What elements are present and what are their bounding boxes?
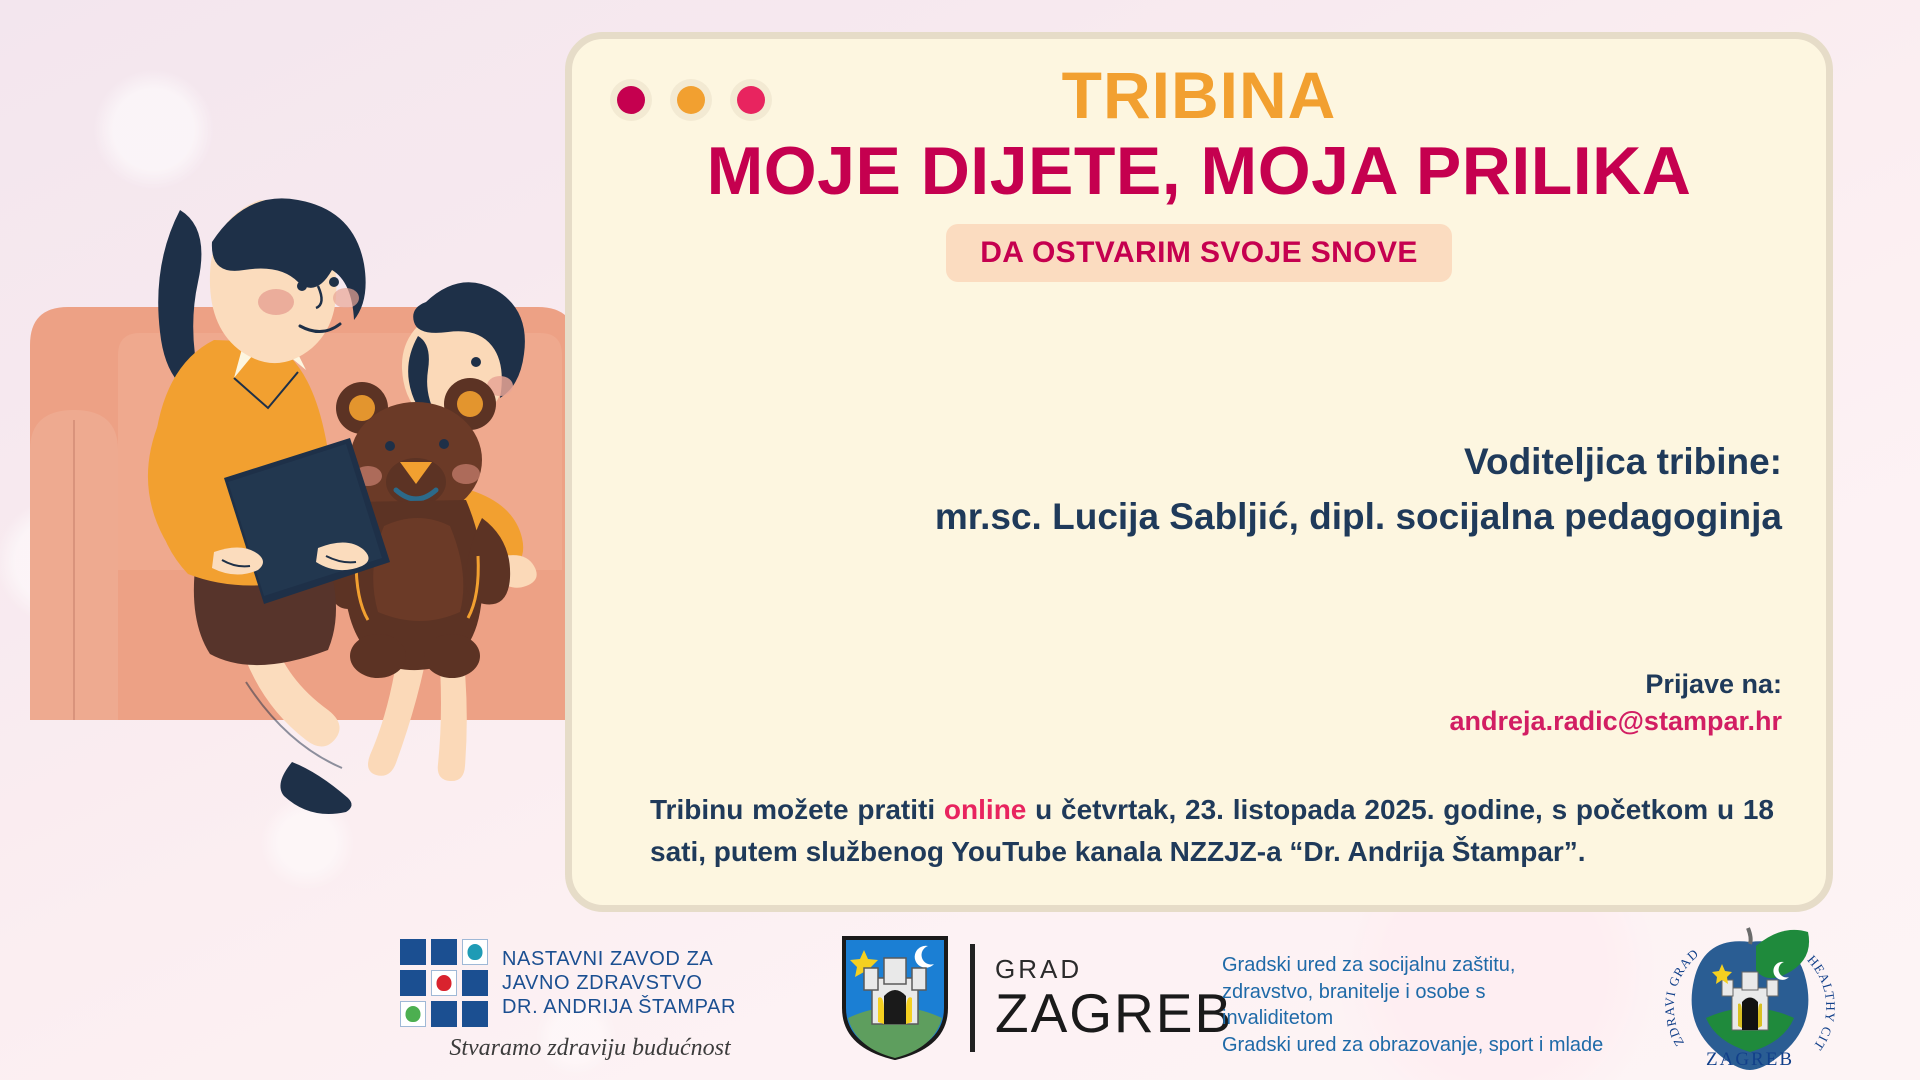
zagreb-grad-label: GRAD [995,956,1233,982]
description-part1: Tribinu možete pratiti [650,794,944,825]
nzjz-line1: NASTAVNI ZAVOD ZA [502,947,736,971]
nzjz-line2: JAVNO ZDRAVSTVO [502,971,736,995]
healthy-city-logo: ZDRAVI GRAD HEALTHY CITY ZAGREB [1660,922,1840,1072]
page-title: MOJE DIJETE, MOJA PRILIKA [572,135,1826,208]
event-description: Tribinu možete pratiti online u četvrtak… [650,789,1774,873]
office-line3: invaliditetom [1222,1005,1662,1031]
event-kicker: TRIBINA [572,61,1826,131]
illustration-mother-and-child [0,90,620,890]
speaker-name: mr.sc. Lucija Sabljić, dipl. socijalna p… [662,493,1782,541]
poster-root: TRIBINA MOJE DIJETE, MOJA PRILIKA DA OST… [0,0,1920,1080]
healthy-bottom-label: ZAGREB [1706,1049,1794,1070]
grad-zagreb-block: GRAD ZAGREB [840,934,1233,1062]
office-line4: Gradski ured za obrazovanje, sport i mla… [1222,1032,1662,1058]
office-line1: Gradski ured za socijalnu zaštitu, [1222,952,1662,978]
description-highlight: online [944,794,1026,825]
nzjz-logo-block: NASTAVNI ZAVOD ZA JAVNO ZDRAVSTVO DR. AN… [400,939,780,1062]
speaker-label: Voditeljica tribine: [662,439,1782,485]
content-card: TRIBINA MOJE DIJETE, MOJA PRILIKA DA OST… [565,32,1833,912]
nzjz-grid-icon [400,939,488,1027]
office-line2: zdravstvo, branitelje i osobe s [1222,979,1662,1005]
zagreb-coat-of-arms-icon [840,934,950,1062]
signup-label: Prijave na: [1450,669,1782,700]
subtitle-badge: DA OSTVARIM SVOJE SNOVE [946,224,1452,282]
footer: NASTAVNI ZAVOD ZA JAVNO ZDRAVSTVO DR. AN… [0,910,1920,1080]
title-block: TRIBINA MOJE DIJETE, MOJA PRILIKA DA OST… [572,61,1826,282]
signup-block: Prijave na: andreja.radic@stampar.hr [1450,669,1782,737]
zagreb-name-label: ZAGREB [995,986,1233,1041]
signup-email[interactable]: andreja.radic@stampar.hr [1450,706,1782,737]
nzjz-line3: DR. ANDRIJA ŠTAMPAR [502,995,736,1019]
nzjz-tagline: Stvaramo zdraviju budućnost [400,1035,780,1062]
zagreb-divider [970,944,975,1052]
city-office-text: Gradski ured za socijalnu zaštitu, zdrav… [1222,952,1662,1058]
speaker-block: Voditeljica tribine: mr.sc. Lucija Sablj… [662,439,1782,541]
